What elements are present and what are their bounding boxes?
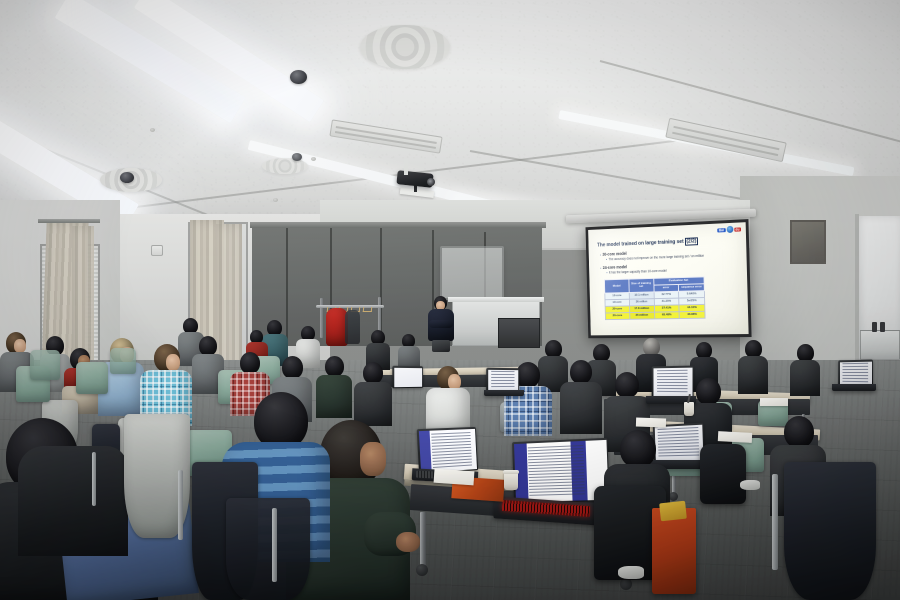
- coat-hanger: [363, 307, 373, 312]
- foreground-torso: [18, 446, 128, 556]
- document-text-lines: [491, 371, 515, 389]
- desk-caster: [416, 564, 428, 576]
- head: [282, 356, 303, 379]
- head: [199, 336, 217, 356]
- notepad: [718, 431, 752, 443]
- audience-member-suit: [738, 340, 768, 394]
- chair-frame: [772, 474, 778, 570]
- document-text-lines: [657, 370, 688, 395]
- ceiling-sprinkler: [273, 198, 278, 202]
- face: [166, 354, 180, 371]
- ceiling-air-vent: [360, 25, 450, 69]
- chair-frame: [92, 452, 96, 506]
- side-counter: [860, 330, 900, 360]
- torso: [790, 360, 820, 396]
- ceiling-dome-camera: [120, 172, 134, 183]
- partition-track: [250, 222, 546, 228]
- torso: [738, 356, 768, 394]
- projector-bracket: [404, 159, 408, 175]
- laptop-screen: [840, 361, 872, 385]
- head: [516, 362, 540, 388]
- shoe: [618, 566, 644, 579]
- document-text-lines: [843, 363, 869, 383]
- tote-contents: [659, 501, 687, 522]
- head: [363, 362, 383, 384]
- doorway-jamb: [855, 214, 859, 368]
- head: [784, 416, 814, 448]
- laptop-lid[interactable]: [486, 368, 519, 392]
- th-size: Size of training set: [629, 278, 654, 293]
- lecture-hall-photo: Bai du The model trained on large traini…: [0, 0, 900, 600]
- laptop-screen: [488, 369, 518, 390]
- counter-bottles: [880, 322, 885, 332]
- front-equipment-rack: [498, 318, 540, 348]
- wall-framed-panel: [790, 220, 826, 264]
- slide-title-text: The model trained on large training set: [597, 239, 684, 248]
- logo-globe-icon: [726, 226, 733, 233]
- torso: [560, 382, 602, 434]
- projector-lens: [427, 178, 435, 186]
- slide-page-marker: (2/2): [684, 237, 698, 245]
- counter-bottles: [872, 322, 877, 332]
- ceiling-dome-camera: [290, 70, 307, 84]
- head: [325, 356, 344, 377]
- logo-left-text: Bai: [717, 228, 725, 232]
- notepad: [760, 398, 788, 406]
- front-counter-top: [448, 297, 544, 302]
- logo-right-text: du: [734, 227, 741, 231]
- audience-member-white-shirt: [426, 366, 470, 436]
- cell-error: 65.48%: [654, 312, 679, 319]
- presenter: [424, 296, 458, 352]
- desk-caster: [669, 492, 678, 501]
- audience-member: [354, 362, 392, 426]
- head: [696, 378, 721, 405]
- dark-coat: [345, 310, 360, 344]
- ceiling-dome-camera: [292, 153, 302, 161]
- audience-member-suit: [790, 344, 820, 396]
- notepad: [434, 469, 475, 486]
- presenter-legs: [432, 340, 450, 352]
- laptop-lid[interactable]: [392, 366, 423, 388]
- head: [240, 352, 260, 374]
- cell-model: 20-core: [605, 313, 629, 320]
- presenter-arm-crossed: [429, 320, 453, 328]
- hand: [396, 532, 420, 552]
- chair: [110, 348, 136, 374]
- ceiling-air-vent: [262, 158, 308, 174]
- jacket-on-chair: [226, 498, 310, 600]
- baidu-logo: Bai du: [717, 225, 741, 233]
- chair: [76, 362, 108, 394]
- coat-rack-post: [320, 298, 323, 338]
- coffee-cup: [684, 402, 694, 416]
- audience-member: [560, 360, 602, 434]
- head: [615, 372, 639, 398]
- chair-frame: [178, 470, 183, 540]
- table-row-highlighted: 20-core 36 million 65.48% 43.98%: [605, 311, 705, 319]
- jacket-on-chair: [784, 462, 876, 600]
- audience-member: [398, 334, 420, 370]
- desk-leg: [420, 512, 426, 568]
- laptop-lid[interactable]: [838, 360, 873, 387]
- laptop-lid[interactable]: [417, 427, 478, 474]
- laptop-base[interactable]: [832, 384, 876, 391]
- ceiling-sprinkler: [311, 157, 316, 161]
- cell-size: 36 million: [630, 312, 655, 319]
- laptop-screen-document: [418, 428, 476, 472]
- presentation-slide: Bai du The model trained on large traini…: [588, 222, 748, 335]
- document-text-lines: [528, 445, 585, 496]
- curtain-rod: [38, 219, 100, 223]
- front-whiteboard: [440, 246, 504, 300]
- th-model: Model: [604, 279, 629, 294]
- slide-results-table: Model Size of training set Evaluation Se…: [604, 276, 706, 320]
- shoe: [740, 480, 760, 490]
- chair: [30, 350, 60, 380]
- cell-seq-error: 43.98%: [679, 311, 705, 318]
- projection-screen: Bai du The model trained on large traini…: [586, 219, 752, 338]
- face: [14, 339, 26, 353]
- laptop-base[interactable]: [484, 390, 524, 396]
- orange-tote-bag: [652, 508, 696, 594]
- wall-thermostat[interactable]: [151, 245, 163, 256]
- backpack: [700, 444, 746, 504]
- laptop-lid[interactable]: [652, 366, 694, 399]
- laptop-screen: [653, 367, 692, 397]
- coffee-cup-lid: [503, 470, 519, 474]
- notepad: [636, 417, 666, 427]
- ceiling-sprinkler: [150, 128, 155, 132]
- coffee-cup: [504, 472, 518, 490]
- head: [620, 430, 656, 468]
- document-text-lines: [431, 432, 472, 468]
- face: [360, 442, 386, 476]
- laptop-screen: [394, 367, 422, 386]
- chair-frame: [272, 508, 277, 582]
- head: [570, 360, 592, 384]
